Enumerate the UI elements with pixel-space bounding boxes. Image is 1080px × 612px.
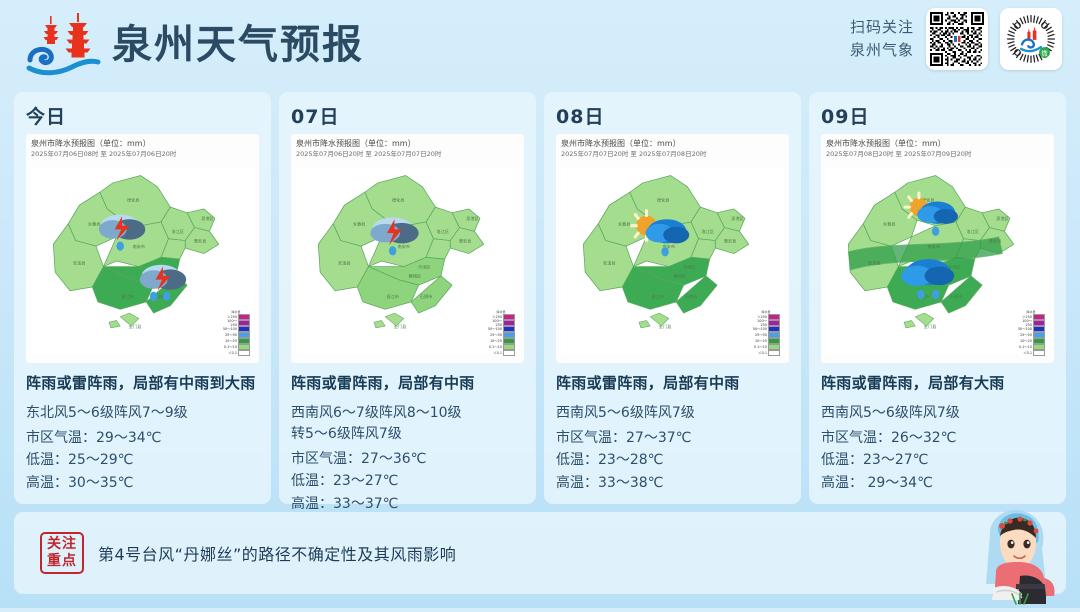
card-day-label: 09日 — [821, 102, 1054, 129]
legend-label: 0.1～10 — [486, 344, 502, 349]
svg-text:德化县: 德化县 — [657, 196, 670, 202]
svg-text:泉港区: 泉港区 — [466, 215, 479, 221]
svg-text:石狮市: 石狮市 — [685, 293, 698, 299]
forecast-description: 阵雨或雷阵雨，局部有中雨 西南风6～7级阵风8～10级 转5～6级阵风7级 市区… — [291, 373, 524, 516]
forecast-card-09[interactable]: 09日 泉州市降水预报图（单位：mm） 2025年07月08日20时 至 202… — [809, 92, 1066, 504]
svg-text:晋江市: 晋江市 — [121, 293, 134, 299]
low-temperature: 低温：23～27℃ — [291, 470, 524, 493]
legend-swatch — [768, 350, 780, 356]
legend-swatch — [503, 350, 515, 356]
legend-row: ＜0.1 — [1016, 350, 1046, 356]
high-temperature: 高温：30～35℃ — [26, 472, 259, 495]
map-title: 泉州市降水预报图（单位：mm） — [561, 139, 784, 149]
precipitation-legend: 降水量 ＞250100～25050～10025～5010～250.1～10＜0.… — [751, 310, 781, 356]
forecast-card-row: 今日 泉州市降水预报图（单位：mm） 2025年07月06日08时 至 2025… — [14, 92, 1066, 504]
wind-info: 西南风6～7级阵风8～10级 转5～6级阵风7级 — [291, 403, 524, 445]
map-period: 2025年07月06日08时 至 2025年07月06日20时 — [31, 150, 254, 159]
low-temperature: 低温：23～28℃ — [556, 449, 789, 472]
legend-label: 10～25 — [1016, 338, 1032, 343]
svg-text:泉港区: 泉港区 — [201, 215, 214, 221]
legend-label: ＜0.1 — [751, 350, 767, 355]
svg-text:惠安县: 惠安县 — [989, 237, 1002, 243]
map-canvas: 德化县永春县 安溪县南安市 洛江区泉港区 惠安县丰泽区 鲤城区晋江市 石狮市金门… — [31, 161, 254, 361]
qr-label-line1: 扫码关注 — [850, 16, 914, 39]
map-title: 泉州市降水预报图（单位：mm） — [31, 139, 254, 149]
svg-text:永春县: 永春县 — [883, 221, 896, 227]
legend-label: 50～100 — [751, 326, 767, 331]
legend-label: 50～100 — [1016, 326, 1032, 331]
legend-label: 0.1～10 — [221, 344, 237, 349]
legend-label: 25～50 — [221, 332, 237, 337]
legend-label: 25～50 — [1016, 332, 1032, 337]
quanzhou-twin-pagoda-wave-logo — [24, 12, 102, 78]
legend-row: ＜0.1 — [221, 350, 251, 356]
city-temperature: 市区气温：29～34℃ — [26, 427, 259, 450]
card-day-label: 07日 — [291, 102, 524, 129]
badge-line-1: 关注 — [47, 536, 77, 553]
svg-text:丰泽区: 丰泽区 — [683, 263, 696, 269]
status-badge: 关注 重点 — [40, 532, 84, 573]
page-header: 泉州天气预报 扫码关注 泉州气象 — [0, 0, 1080, 92]
weather-summary: 阵雨或雷阵雨，局部有中雨 — [291, 373, 524, 395]
legend-rows: ＞250100～25050～10025～5010～250.1～10＜0.1 — [751, 314, 781, 356]
legend-label: 10～25 — [221, 338, 237, 343]
svg-text:鲤城区: 鲤城区 — [409, 273, 422, 279]
forecast-card-07[interactable]: 07日 泉州市降水预报图（单位：mm） 2025年07月06日20时 至 202… — [279, 92, 536, 504]
wind-info: 西南风5～6级阵风7级 — [821, 403, 1054, 424]
wind-info: 西南风5～6级阵风7级 — [556, 403, 789, 424]
temperature-block: 市区气温：27～37℃ 低温：23～28℃ 高温：33～38℃ — [556, 427, 789, 495]
map-period: 2025年07月07日20时 至 2025年07月08日20时 — [561, 150, 784, 159]
legend-rows: ＞250100～25050～10025～5010～250.1～10＜0.1 — [1016, 314, 1046, 356]
low-temperature: 低温：25～29℃ — [26, 449, 259, 472]
qr-label: 扫码关注 泉州气象 — [850, 16, 914, 63]
svg-text:德化县: 德化县 — [392, 196, 405, 202]
precipitation-map: 泉州市降水预报图（单位：mm） 2025年07月07日20时 至 2025年07… — [556, 134, 789, 363]
svg-text:安溪县: 安溪县 — [603, 260, 616, 266]
page-title: 泉州天气预报 — [112, 12, 364, 78]
forecast-description: 阵雨或雷阵雨，局部有中雨到大雨 东北风5～6级阵风7～9级 市区气温：29～34… — [26, 373, 259, 495]
svg-text:南安市: 南安市 — [133, 243, 146, 249]
precipitation-legend: 降水量 ＞250100～25050～10025～5010～250.1～10＜0.… — [221, 310, 251, 356]
svg-text:晋江市: 晋江市 — [651, 293, 664, 299]
wind-line-1: 西南风6～7级阵风8～10级 — [291, 403, 524, 424]
map-title: 泉州市降水预报图（单位：mm） — [296, 139, 519, 149]
svg-text:惠安县: 惠安县 — [724, 237, 737, 243]
legend-swatch — [238, 350, 250, 356]
map-period: 2025年07月08日20时 至 2025年07月09日20时 — [826, 150, 1049, 159]
high-temperature: 高温： 29～34℃ — [821, 472, 1054, 495]
wechat-qr-code[interactable] — [926, 8, 988, 70]
weather-summary: 阵雨或雷阵雨，局部有中雨到大雨 — [26, 373, 259, 395]
legend-label: ＜0.1 — [1016, 350, 1032, 355]
svg-text:安溪县: 安溪县 — [868, 260, 881, 266]
weather-summary: 阵雨或雷阵雨，局部有大雨 — [821, 373, 1054, 395]
forecast-description: 阵雨或雷阵雨，局部有大雨 西南风5～6级阵风7级 市区气温：26～32℃ 低温：… — [821, 373, 1054, 495]
svg-text:永春县: 永春县 — [353, 221, 366, 227]
focus-banner: 关注 重点 第4号台风“丹娜丝”的路径不确定性及其风雨影响 — [14, 512, 1066, 594]
city-temperature: 市区气温：27～36℃ — [291, 448, 524, 471]
legend-swatch — [1033, 350, 1045, 356]
precipitation-legend: 降水量 ＞250100～25050～10025～5010～250.1～10＜0.… — [486, 310, 516, 356]
svg-text:泉港区: 泉港区 — [996, 215, 1009, 221]
weather-summary: 阵雨或雷阵雨，局部有中雨 — [556, 373, 789, 395]
svg-text:微: 微 — [1041, 49, 1048, 58]
legend-rows: ＞250100～25050～10025～5010～250.1～10＜0.1 — [221, 314, 251, 356]
svg-text:晋江市: 晋江市 — [386, 293, 399, 299]
svg-text:德化县: 德化县 — [127, 196, 140, 202]
temperature-block: 市区气温：29～34℃ 低温：25～29℃ 高温：30～35℃ — [26, 427, 259, 495]
xunpu-woman-mascot — [960, 500, 1072, 608]
wechat-radial-qr-code[interactable]: 微 — [1000, 8, 1062, 70]
legend-label: 25～50 — [486, 332, 502, 337]
legend-rows: ＞250100～25050～10025～5010～250.1～10＜0.1 — [486, 314, 516, 356]
badge-line-2: 重点 — [47, 553, 77, 570]
svg-text:安溪县: 安溪县 — [338, 260, 351, 266]
low-temperature: 低温：23～27℃ — [821, 449, 1054, 472]
map-period: 2025年07月06日20时 至 2025年07月07日20时 — [296, 150, 519, 159]
precipitation-legend: 降水量 ＞250100～25050～10025～5010～250.1～10＜0.… — [1016, 310, 1046, 356]
svg-text:石狮市: 石狮市 — [950, 293, 963, 299]
svg-text:泉港区: 泉港区 — [731, 215, 744, 221]
map-canvas: 德化县永春县 安溪县南安市 洛江区泉港区 惠安县丰泽区 鲤城区晋江市 石狮市金门… — [296, 161, 519, 361]
svg-text:永春县: 永春县 — [618, 221, 631, 227]
svg-text:鲤城区: 鲤城区 — [674, 273, 687, 279]
forecast-description: 阵雨或雷阵雨，局部有中雨 西南风5～6级阵风7级 市区气温：27～37℃ 低温：… — [556, 373, 789, 495]
svg-text:安溪县: 安溪县 — [73, 260, 86, 266]
legend-row: ＜0.1 — [751, 350, 781, 356]
city-temperature: 市区气温：26～32℃ — [821, 427, 1054, 450]
legend-label: 10～25 — [751, 338, 767, 343]
legend-label: 25～50 — [751, 332, 767, 337]
precipitation-map: 泉州市降水预报图（单位：mm） 2025年07月08日20时 至 2025年07… — [821, 134, 1054, 363]
legend-label: 50～100 — [486, 326, 502, 331]
forecast-card-08[interactable]: 08日 泉州市降水预报图（单位：mm） 2025年07月07日20时 至 202… — [544, 92, 801, 504]
temperature-block: 市区气温：26～32℃ 低温：23～27℃ 高温： 29～34℃ — [821, 427, 1054, 495]
forecast-card-today[interactable]: 今日 泉州市降水预报图（单位：mm） 2025年07月06日08时 至 2025… — [14, 92, 271, 504]
card-day-label: 08日 — [556, 102, 789, 129]
svg-text:永春县: 永春县 — [88, 221, 101, 227]
legend-label: ＜0.1 — [221, 350, 237, 355]
map-title: 泉州市降水预报图（单位：mm） — [826, 139, 1049, 149]
svg-text:丰泽区: 丰泽区 — [418, 263, 431, 269]
svg-text:南安市: 南安市 — [398, 243, 411, 249]
wind-info: 东北风5～6级阵风7～9级 — [26, 403, 259, 424]
high-temperature: 高温：33～38℃ — [556, 472, 789, 495]
svg-text:洛江区: 洛江区 — [702, 228, 715, 234]
map-canvas: 德化县永春县 安溪县南安市 洛江区泉港区 惠安县丰泽区 鲤城区晋江市 石狮市金门… — [561, 161, 784, 361]
svg-text:惠安县: 惠安县 — [194, 237, 207, 243]
brand: 泉州天气预报 — [24, 12, 364, 78]
svg-text:惠安县: 惠安县 — [459, 237, 472, 243]
legend-label: ＜0.1 — [486, 350, 502, 355]
legend-row: ＜0.1 — [486, 350, 516, 356]
precipitation-map: 泉州市降水预报图（单位：mm） 2025年07月06日08时 至 2025年07… — [26, 134, 259, 363]
focus-text: 第4号台风“丹娜丝”的路径不确定性及其风雨影响 — [98, 541, 456, 565]
wind-line-2: 转5～6级阵风7级 — [291, 424, 524, 445]
svg-text:洛江区: 洛江区 — [437, 228, 450, 234]
legend-label: 0.1～10 — [751, 344, 767, 349]
qr-label-line2: 泉州气象 — [850, 39, 914, 62]
city-temperature: 市区气温：27～37℃ — [556, 427, 789, 450]
legend-label: 10～25 — [486, 338, 502, 343]
temperature-block: 市区气温：27～36℃ 低温：23～27℃ 高温：33～37℃ — [291, 448, 524, 516]
card-day-label: 今日 — [26, 102, 259, 129]
legend-label: 0.1～10 — [1016, 344, 1032, 349]
qr-zone: 扫码关注 泉州气象 — [850, 8, 1062, 70]
svg-text:洛江区: 洛江区 — [172, 228, 185, 234]
map-canvas: 德化县永春县 安溪县南安市 洛江区泉港区 惠安县丰泽区 鲤城区晋江市 石狮市金门… — [826, 161, 1049, 361]
svg-text:石狮市: 石狮市 — [420, 293, 433, 299]
legend-label: 50～100 — [221, 326, 237, 331]
svg-text:南安市: 南安市 — [928, 243, 941, 249]
precipitation-map: 泉州市降水预报图（单位：mm） 2025年07月06日20时 至 2025年07… — [291, 134, 524, 363]
svg-text:洛江区: 洛江区 — [967, 228, 980, 234]
svg-text:丰泽区: 丰泽区 — [948, 263, 961, 269]
